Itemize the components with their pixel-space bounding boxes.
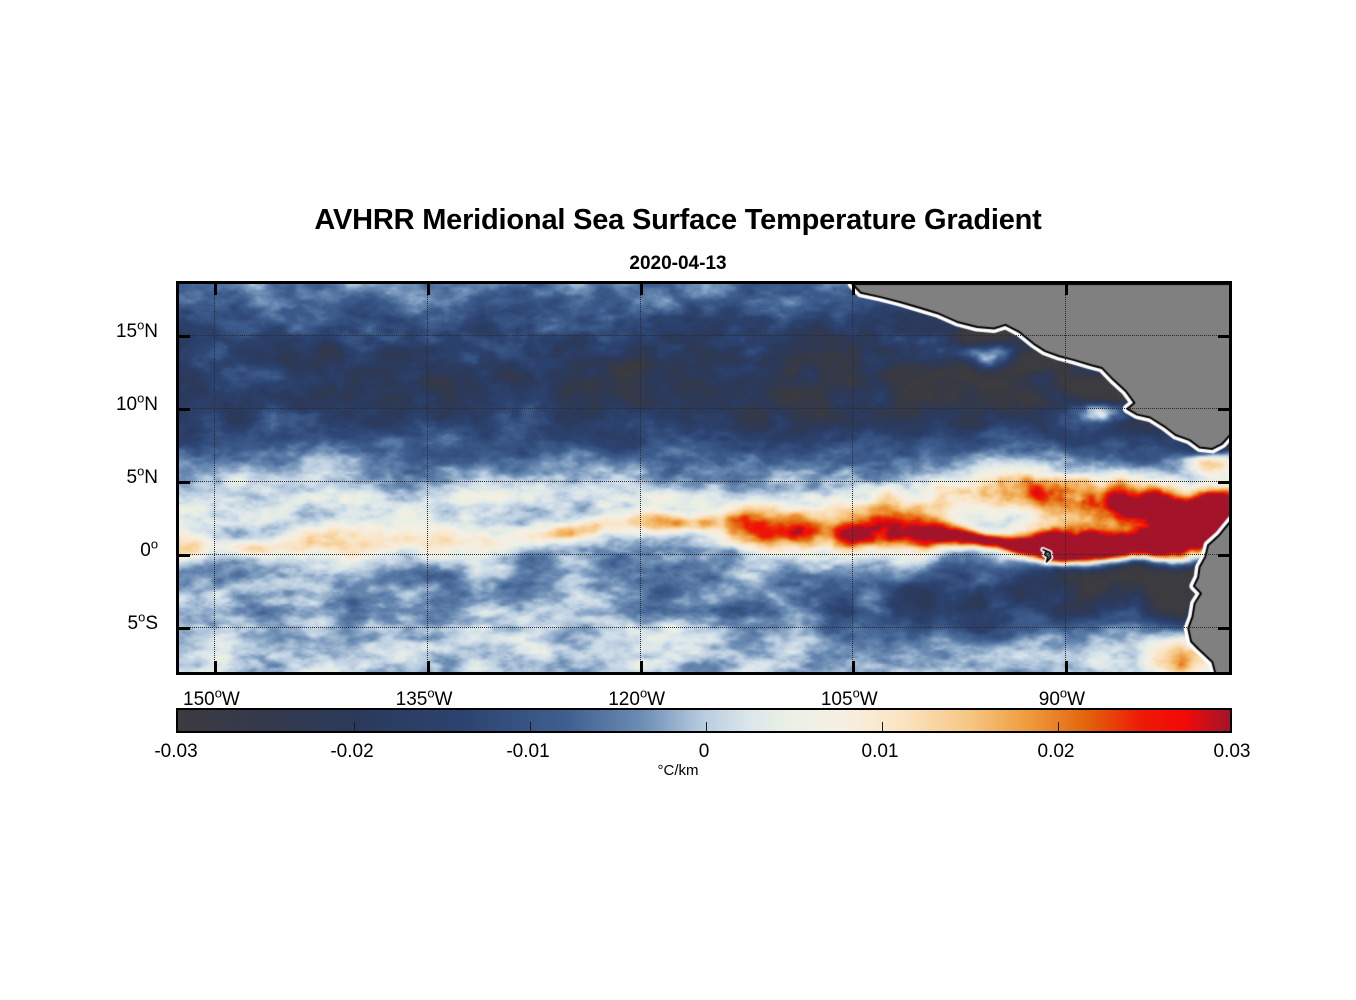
y-axis-tick-label: 5oN (0, 467, 158, 489)
colorbar-unit-label: °C/km (0, 762, 1356, 779)
x-tick-top (640, 284, 643, 295)
colorbar-tick-label: 0 (699, 741, 710, 763)
y-tick (179, 335, 190, 338)
colorbar-tick (1058, 722, 1059, 731)
gridline-latitude (179, 335, 1229, 336)
gridline-latitude (179, 627, 1229, 628)
y-tick (179, 481, 190, 484)
x-tick-top (214, 284, 217, 295)
y-tick-right (1218, 481, 1229, 484)
gridline-longitude (640, 284, 641, 672)
y-axis-tick-label: 10oN (0, 394, 158, 416)
y-tick (179, 408, 190, 411)
colorbar-tick-label: 0.01 (862, 741, 899, 763)
y-axis-tick-label: 15oN (0, 321, 158, 343)
y-tick-right (1218, 335, 1229, 338)
colorbar-tick (882, 722, 883, 731)
page-title: AVHRR Meridional Sea Surface Temperature… (0, 204, 1356, 237)
figure-subtitle: 2020-04-13 (0, 253, 1356, 275)
colorbar-gradient (178, 710, 1230, 731)
x-tick (1065, 661, 1068, 672)
gridline-longitude (427, 284, 428, 672)
gridline-latitude (179, 408, 1229, 409)
figure: AVHRR Meridional Sea Surface Temperature… (0, 0, 1356, 1000)
x-tick-top (852, 284, 855, 295)
gridline-latitude (179, 481, 1229, 482)
land-overlay (179, 284, 1232, 675)
sst-gradient-field (179, 284, 1229, 672)
gridline-longitude (1065, 284, 1066, 672)
colorbar-tick-label: -0.02 (330, 741, 373, 763)
y-tick-right (1218, 554, 1229, 557)
y-tick (179, 627, 190, 630)
gridline-longitude (852, 284, 853, 672)
colorbar-tick (354, 722, 355, 731)
colorbar-tick (706, 722, 707, 731)
gridline-latitude (179, 554, 1229, 555)
map-axes (176, 281, 1232, 675)
colorbar (176, 708, 1232, 733)
y-tick-right (1218, 408, 1229, 411)
colorbar-tick-label: -0.01 (506, 741, 549, 763)
y-tick (179, 554, 190, 557)
x-tick-top (1065, 284, 1068, 295)
y-axis-tick-label: 0o (0, 540, 158, 562)
colorbar-tick-label: 0.03 (1214, 741, 1251, 763)
x-tick-top (427, 284, 430, 295)
y-axis-tick-label: 5oS (0, 613, 158, 635)
x-tick (852, 661, 855, 672)
x-tick (214, 661, 217, 672)
colorbar-tick-label: 0.02 (1038, 741, 1075, 763)
x-tick (427, 661, 430, 672)
colorbar-tick-label: -0.03 (154, 741, 197, 763)
colorbar-tick (530, 722, 531, 731)
x-tick (640, 661, 643, 672)
y-tick-right (1218, 627, 1229, 630)
gridline-longitude (214, 284, 215, 672)
